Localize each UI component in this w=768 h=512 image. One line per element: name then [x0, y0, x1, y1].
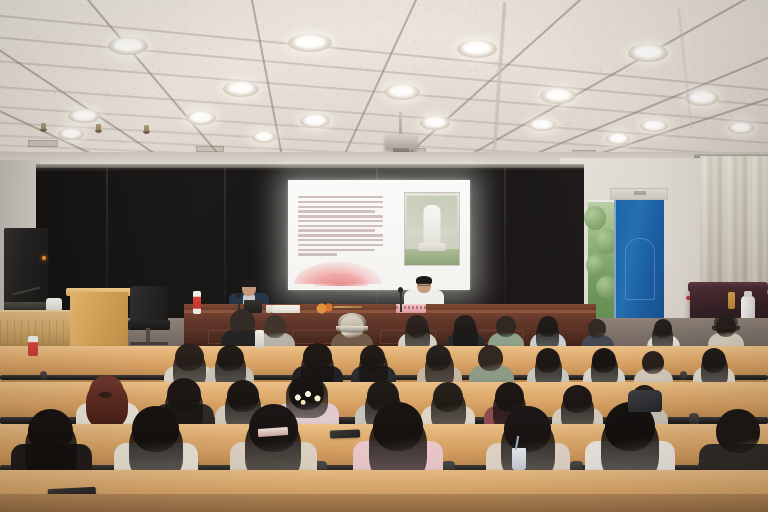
downlight-core	[634, 48, 661, 56]
downlight-core	[114, 41, 141, 49]
thermos-bottle-on-desk	[255, 330, 264, 348]
slide-text-line-4	[298, 210, 375, 212]
downlight-core	[295, 38, 325, 46]
downlight-core	[463, 44, 490, 52]
slide-text-line-11	[298, 244, 383, 246]
desk-rail-bracket-r1-1	[40, 371, 47, 380]
slide-text-line-12	[298, 249, 375, 251]
projector-mount-pole	[399, 112, 402, 136]
cap-brim	[336, 326, 368, 333]
ceiling-downlight-8	[685, 90, 719, 106]
drink-cup-with-straw	[512, 448, 526, 470]
stage-chair-base	[130, 342, 168, 345]
ceiling-downlight-9	[68, 109, 100, 123]
cap-brim	[712, 326, 740, 332]
ceiling-downlight-12	[420, 116, 450, 130]
ceiling-downlight-2	[288, 34, 332, 52]
downlight-core	[425, 119, 445, 125]
ceiling-downlight-13	[528, 119, 556, 131]
slide-photo-lawn	[405, 249, 459, 265]
microphone-stand-right	[400, 292, 402, 312]
slide-text-line-13	[298, 253, 337, 255]
ceiling-vent-a	[28, 140, 58, 147]
student-head	[588, 319, 606, 338]
downlight-core	[73, 112, 95, 118]
slide-text-line-10	[298, 239, 383, 241]
student-head	[264, 315, 286, 338]
amber-bottle	[728, 292, 735, 309]
slide-statue-photo	[404, 192, 460, 266]
downlight-core	[546, 92, 570, 99]
ceiling-downlight-4	[628, 44, 668, 62]
ceiling-downlight-1	[108, 37, 148, 55]
student-head	[478, 345, 503, 371]
wooden-lectern	[70, 292, 128, 350]
tree-foliage-1	[584, 206, 606, 230]
lecture-hall-photo	[0, 0, 768, 512]
downlight-core	[532, 122, 551, 128]
flower-stem	[334, 306, 362, 308]
student-head	[230, 309, 255, 335]
downlight-core	[305, 117, 325, 123]
ceiling-downlight-10	[186, 111, 216, 125]
ceiling-downlight-18	[606, 133, 630, 145]
student-head	[642, 351, 664, 374]
ceiling-downlight-11	[300, 114, 330, 128]
slide-surface	[288, 180, 470, 290]
downlight-core	[690, 94, 713, 101]
blue-entrance-door[interactable]	[614, 200, 664, 334]
presenter-hair	[241, 279, 257, 287]
desk-rail-bracket-r1-6	[680, 371, 687, 380]
ceiling-downlight-5	[223, 81, 259, 97]
slide-text-line-6	[298, 220, 383, 222]
downlight-core	[644, 123, 663, 129]
smartphone-on-desk-2	[330, 429, 360, 438]
flower-arrangement	[312, 302, 336, 314]
red-thermos-flask	[193, 291, 201, 314]
statue-figure	[424, 205, 441, 248]
downlight-core	[62, 131, 80, 137]
presenter-eyeglasses	[418, 283, 430, 286]
white-bottle-front-desk	[28, 336, 38, 356]
microphone-head-left	[236, 292, 241, 298]
slide-text-line-1	[298, 196, 383, 198]
slide-text-line-9	[298, 234, 383, 236]
backdrop-fold-2	[224, 168, 226, 320]
sprinkler-head-3	[144, 125, 149, 133]
ceiling-downlight-6	[384, 84, 420, 100]
ceiling-downlight-14	[640, 120, 668, 132]
downlight-core	[732, 125, 750, 131]
backdrop-fold-4	[504, 168, 506, 320]
microphone-head-right	[398, 287, 403, 293]
suspended-ceiling	[0, 0, 768, 172]
ceiling-downlight-15	[728, 122, 754, 134]
door-sign	[634, 191, 646, 195]
downlight-core	[390, 88, 414, 95]
downlight-core	[610, 136, 626, 142]
downlight-core	[256, 134, 272, 140]
ceiling-downlight-16	[58, 128, 84, 140]
student-ponytail-tie	[99, 392, 112, 398]
slide-text-line-7	[298, 225, 383, 227]
sprinkler-head-2	[96, 124, 101, 132]
aisle-floor	[0, 494, 768, 512]
backpack-on-desk	[628, 390, 662, 412]
downlight-core	[191, 114, 211, 120]
student-hair-mass	[86, 381, 128, 429]
speaker-power-led	[42, 256, 46, 260]
projection-screen	[288, 180, 470, 290]
slide-text-line-2	[298, 201, 383, 203]
slide-text-line-3	[298, 206, 383, 208]
slide-text-line-5	[298, 215, 383, 217]
downlight-core	[229, 85, 253, 92]
ceiling-downlight-17	[252, 131, 276, 143]
sprinkler-head-1	[41, 123, 46, 131]
slide-text-block	[298, 196, 390, 256]
slide-text-line-8	[298, 229, 375, 231]
door-panel-inset	[625, 238, 655, 300]
tree-foliage-3	[586, 254, 606, 276]
ceiling-downlight-3	[457, 40, 497, 58]
student-head	[496, 316, 516, 337]
student-head	[716, 409, 760, 453]
ceiling-downlight-7	[540, 88, 576, 104]
